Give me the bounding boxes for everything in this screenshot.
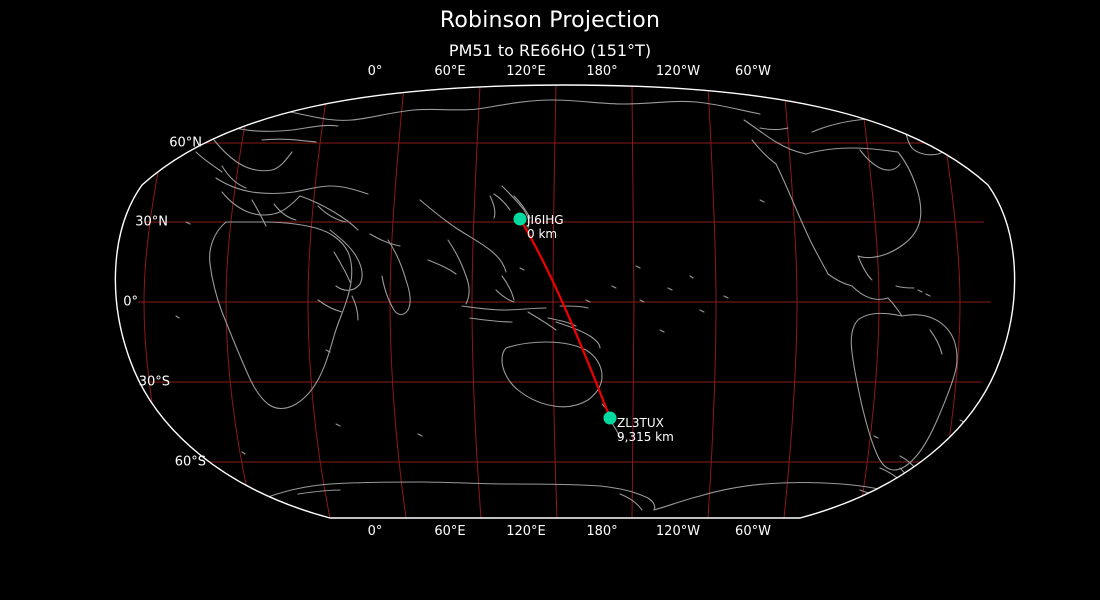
station-marker-origin[interactable]	[514, 213, 527, 226]
station-callsign-origin: JI6IHG	[527, 213, 564, 227]
map-figure: Robinson Projection PM51 to RE66HO (151°…	[0, 0, 1100, 600]
station-marker-destination[interactable]	[604, 412, 617, 425]
station-annotation-origin: JI6IHG 0 km	[527, 213, 564, 241]
lon-tick-bottom-2: 120°E	[506, 524, 546, 539]
station-distance-destination: 9,315 km	[617, 430, 674, 444]
lat-tick-30s: 30°S	[139, 375, 170, 390]
lon-tick-bottom-1: 60°E	[434, 524, 465, 539]
lon-tick-top-5: 60°W	[735, 64, 771, 79]
map-canvas[interactable]: 0° 60°E 120°E 180° 120°W 60°W 0° 60°E 12…	[0, 0, 1100, 600]
lat-tick-60n: 60°N	[169, 136, 202, 151]
lon-tick-bottom-5: 60°W	[735, 524, 771, 539]
lon-tick-top-1: 60°E	[434, 64, 465, 79]
lon-tick-top-2: 120°E	[506, 64, 546, 79]
lon-tick-bottom-0: 0°	[368, 524, 383, 539]
map-interior	[100, 80, 1020, 525]
station-annotation-destination: ZL3TUX 9,315 km	[617, 416, 674, 444]
lat-tick-30n: 30°N	[135, 215, 168, 230]
lon-tick-top-4: 120°W	[656, 64, 700, 79]
lon-tick-bottom-3: 180°	[586, 524, 617, 539]
station-callsign-destination: ZL3TUX	[617, 416, 664, 430]
robinson-projection-svg	[0, 0, 1100, 600]
lon-tick-bottom-4: 120°W	[656, 524, 700, 539]
lat-tick-60s: 60°S	[175, 455, 206, 470]
lon-tick-top-0: 0°	[368, 64, 383, 79]
lat-tick-0: 0°	[123, 295, 138, 310]
lon-tick-top-3: 180°	[586, 64, 617, 79]
station-distance-origin: 0 km	[527, 227, 564, 241]
